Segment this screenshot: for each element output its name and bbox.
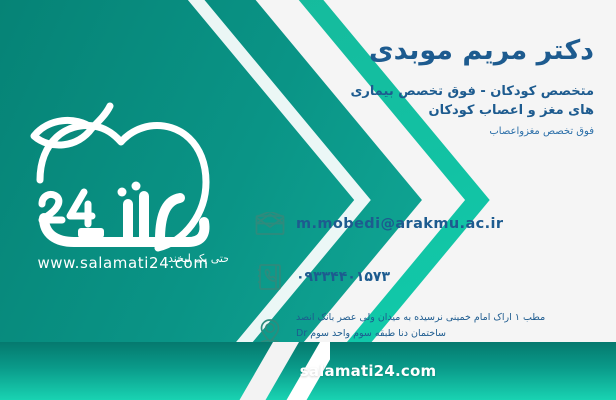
business-card: براحتی یک لبخند www.salamati24.com دکتر … bbox=[0, 0, 616, 400]
header-block: دکتر مریم موبدی متخصص کودکان - فوق تخصص … bbox=[264, 34, 594, 140]
address-line-2: ساختمان دنا طبقه سوم واحد سوم Dr bbox=[296, 326, 594, 342]
contact-row-email[interactable]: m.mobedi@arakmu.ac.ir bbox=[250, 204, 602, 244]
footer-website[interactable]: salamati24.com bbox=[0, 342, 616, 400]
doctor-name: دکتر مریم موبدی bbox=[264, 34, 594, 68]
contact-row-phone[interactable]: ۰۹۳۳۴۴۰۱۵۷۳ bbox=[250, 257, 602, 297]
logo-website-url: www.salamati24.com bbox=[18, 254, 228, 272]
specialty-subtitle: فوق تخصص مغزواعصاب bbox=[264, 124, 594, 140]
footer-bar: salamati24.com bbox=[0, 342, 616, 400]
phone-book-icon bbox=[250, 257, 290, 297]
email-value[interactable]: m.mobedi@arakmu.ac.ir bbox=[290, 216, 602, 232]
envelope-icon bbox=[250, 204, 290, 244]
specialty-line-2: های مغز و اعصاب کودکان bbox=[264, 101, 594, 121]
address-value: مطب ۱ اراک امام خمینی نرسیده به میدان ول… bbox=[290, 310, 602, 342]
specialty-line-1: متخصص کودکان - فوق تخصص بیماری bbox=[264, 82, 594, 102]
phone-value[interactable]: ۰۹۳۳۴۴۰۱۵۷۳ bbox=[290, 269, 602, 285]
contact-block: m.mobedi@arakmu.ac.ir ۰۹۳۳۴۴۰۱۵۷۳ bbox=[250, 204, 602, 365]
address-line-1: مطب ۱ اراک امام خمینی نرسیده به میدان ول… bbox=[296, 310, 594, 326]
brand-logo: براحتی یک لبخند www.salamati24.com bbox=[18, 92, 228, 282]
